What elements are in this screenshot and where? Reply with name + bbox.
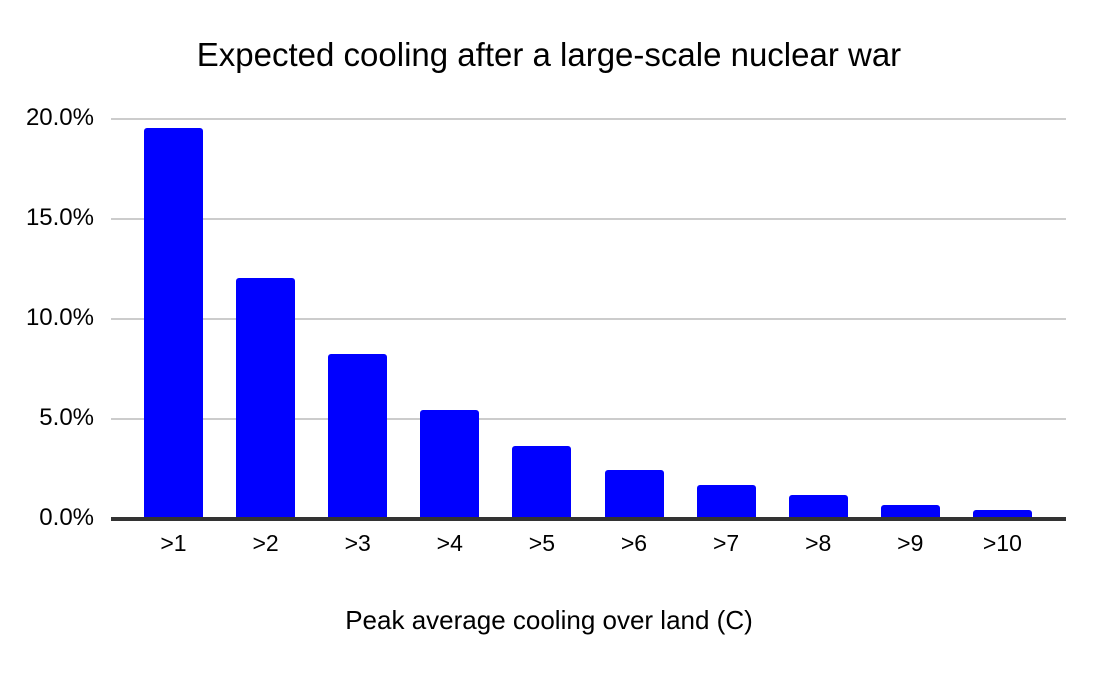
x-axis-line bbox=[111, 517, 1066, 521]
x-axis-tick-label: >1 bbox=[128, 530, 220, 557]
x-axis-tick-labels: >1>2>3>4>5>6>7>8>9>10 bbox=[111, 530, 1066, 564]
bar[interactable] bbox=[789, 495, 848, 518]
gridline bbox=[111, 218, 1066, 220]
y-axis-tick-labels: 0.0%5.0%10.0%15.0%20.0% bbox=[0, 0, 100, 678]
y-axis-tick-label: 20.0% bbox=[0, 104, 100, 132]
x-axis-tick-label: >2 bbox=[220, 530, 312, 557]
x-axis-tick-label: >6 bbox=[588, 530, 680, 557]
bar[interactable] bbox=[236, 278, 295, 518]
x-axis-tick-label: >9 bbox=[864, 530, 956, 557]
x-axis-tick-label: >8 bbox=[772, 530, 864, 557]
y-axis-tick-label: 5.0% bbox=[0, 404, 100, 432]
y-axis-tick-label: 10.0% bbox=[0, 304, 100, 332]
x-axis-tick-label: >3 bbox=[312, 530, 404, 557]
bar-chart: Expected cooling after a large-scale nuc… bbox=[0, 0, 1098, 678]
y-axis-tick-label: 0.0% bbox=[0, 504, 100, 532]
x-axis-tick-label: >4 bbox=[404, 530, 496, 557]
bar[interactable] bbox=[697, 485, 756, 518]
gridline bbox=[111, 118, 1066, 120]
bar[interactable] bbox=[420, 410, 479, 518]
x-axis-tick-label: >10 bbox=[956, 530, 1048, 557]
x-axis-tick-label: >5 bbox=[496, 530, 588, 557]
chart-title: Expected cooling after a large-scale nuc… bbox=[0, 36, 1098, 74]
bar[interactable] bbox=[512, 446, 571, 518]
y-axis-tick-label: 15.0% bbox=[0, 204, 100, 232]
bar[interactable] bbox=[144, 128, 203, 518]
x-axis-title: Peak average cooling over land (C) bbox=[0, 605, 1098, 636]
x-axis-tick-label: >7 bbox=[680, 530, 772, 557]
bar[interactable] bbox=[605, 470, 664, 518]
bar[interactable] bbox=[328, 354, 387, 518]
plot-area bbox=[111, 118, 1066, 518]
